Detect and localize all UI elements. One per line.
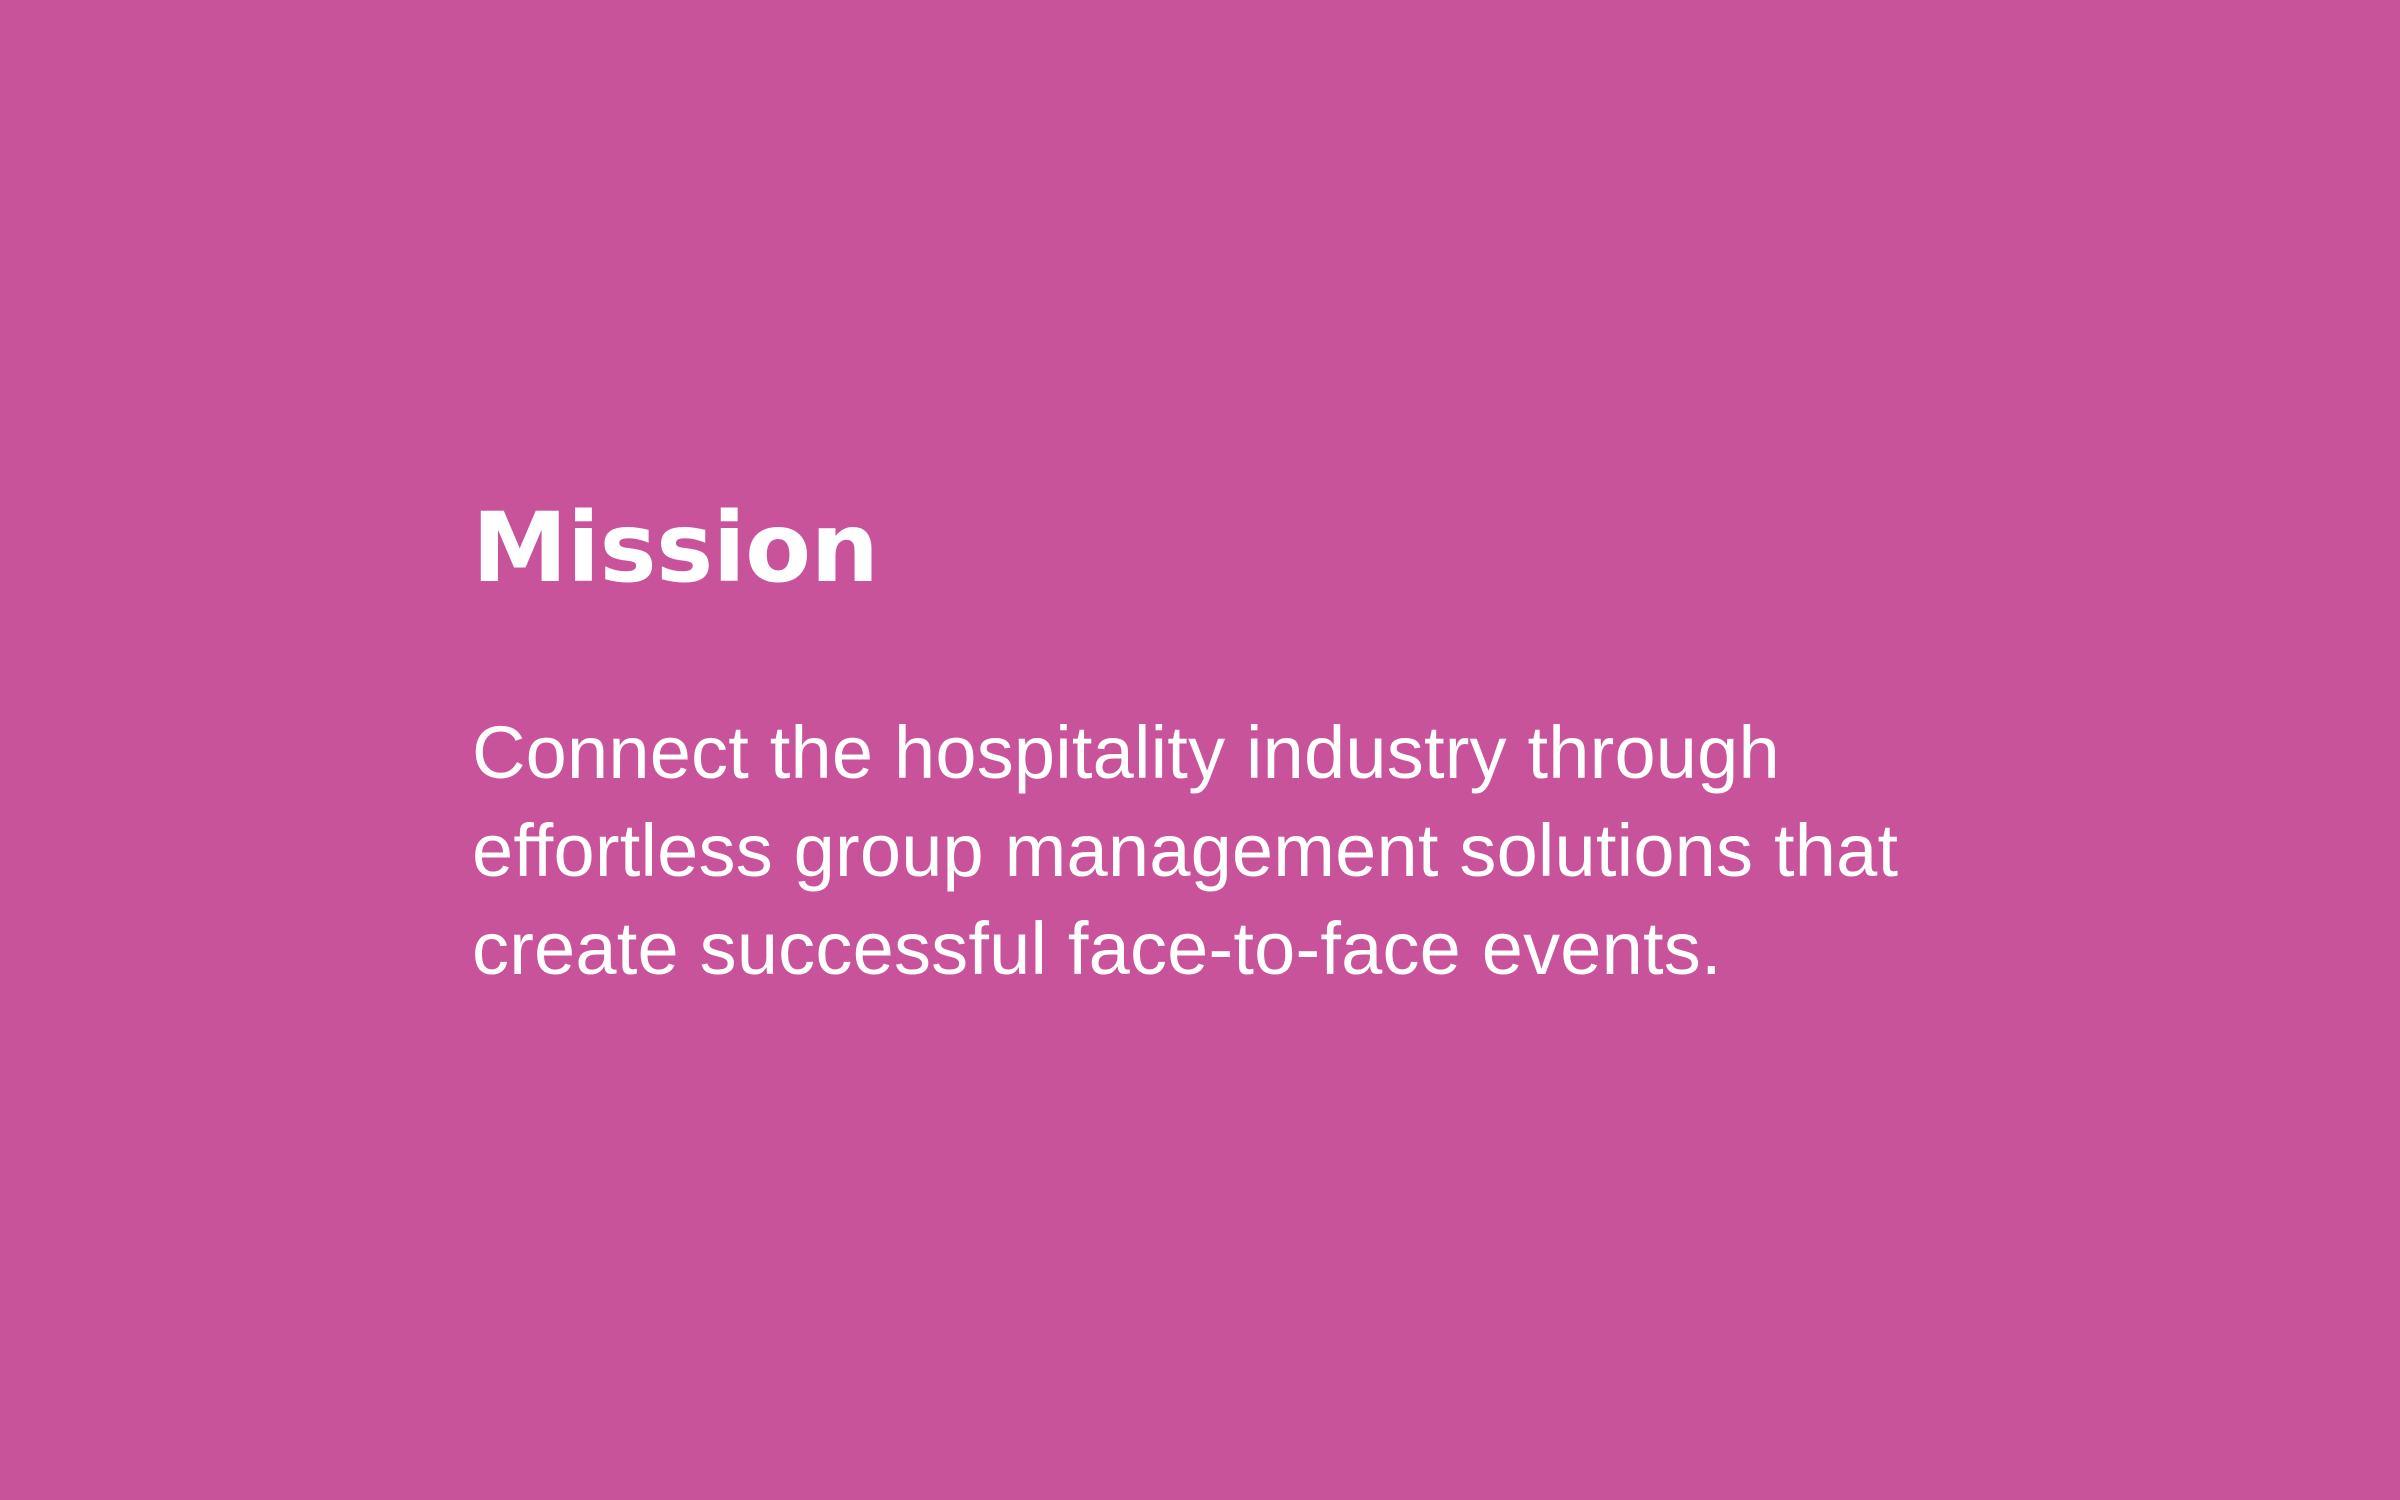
- mission-statement-text: Connect the hospitality industry through…: [472, 596, 1952, 998]
- mission-statement-line-2: effortless group management solutions th…: [472, 802, 1952, 900]
- page-title: Mission: [472, 500, 2032, 596]
- mission-statement-line-3: create successful face-to-face events.: [472, 900, 1952, 998]
- mission-content-block: Mission Connect the hospitality industry…: [472, 500, 2032, 998]
- mission-statement-line-1: Connect the hospitality industry through: [472, 704, 1952, 802]
- mission-slide: Mission Connect the hospitality industry…: [0, 0, 2400, 1500]
